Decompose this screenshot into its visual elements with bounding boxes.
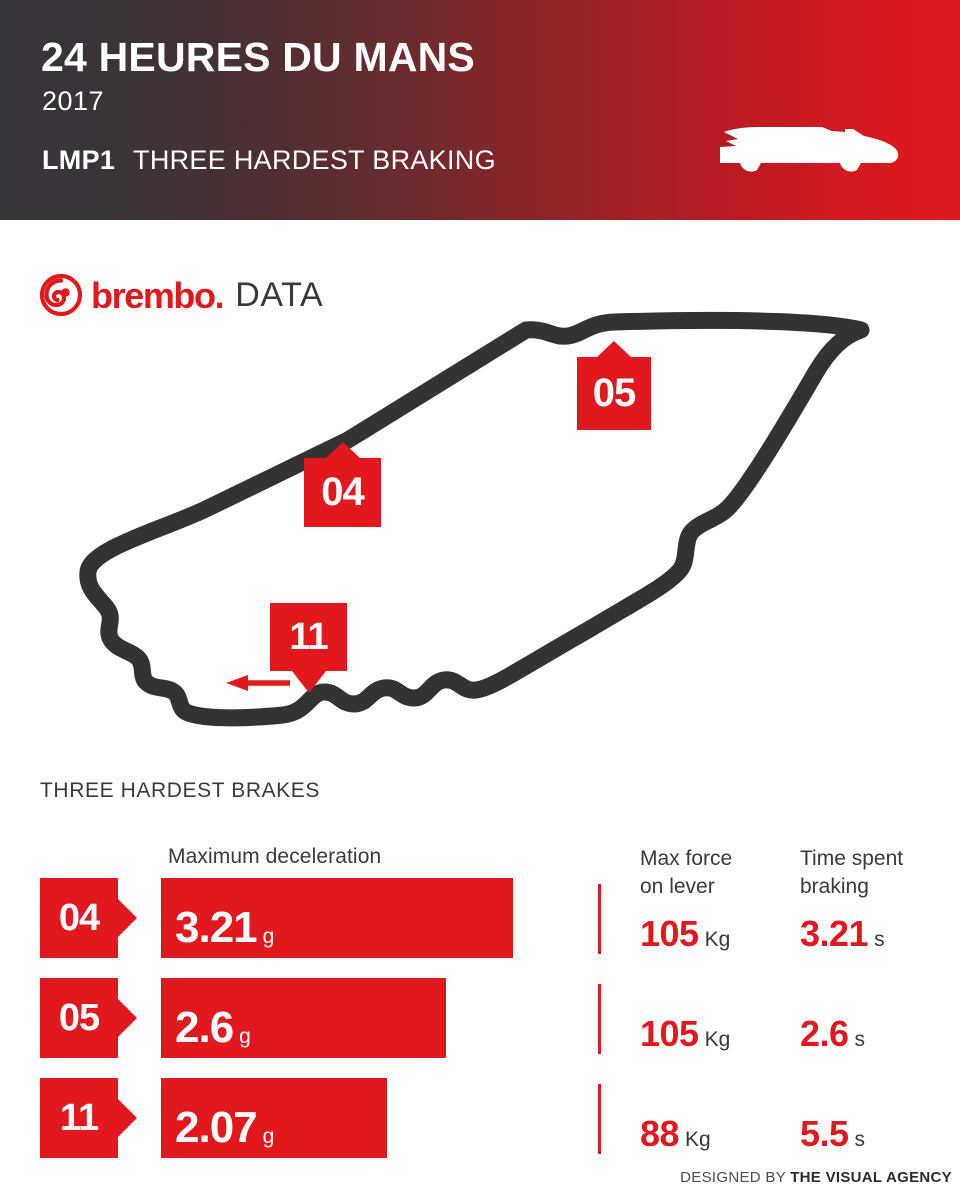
circuit-map <box>48 300 928 740</box>
decel-bar: 2.07 g <box>161 1078 387 1158</box>
force-unit: Kg <box>699 1029 731 1052</box>
section-title: THREE HARDEST BRAKES <box>40 779 320 803</box>
direction-arrow-icon <box>226 675 290 691</box>
decel-unit: g <box>233 1026 251 1058</box>
time-value: 3.21 <box>800 916 868 952</box>
decel-value: 2.6 <box>161 1006 233 1058</box>
time-unit: s <box>868 929 885 952</box>
header-banner: 24 HEURES DU MANS 2017 LMP1 THREE HARDES… <box>0 0 960 220</box>
map-marker-04[interactable]: 04 <box>304 458 381 527</box>
pin-tab <box>326 442 360 458</box>
corner-label: 04 <box>59 897 99 940</box>
edition-year: 2017 <box>42 88 104 115</box>
corner-badge[interactable]: 11 <box>40 1078 118 1158</box>
column-divider <box>598 984 601 1054</box>
time-metric: 2.6 s <box>800 1016 865 1052</box>
force-unit: Kg <box>679 1129 711 1152</box>
force-metric: 105 Kg <box>640 916 730 952</box>
map-marker-11[interactable]: 11 <box>270 603 347 671</box>
force-value: 105 <box>640 1016 699 1052</box>
decel-unit: g <box>257 926 275 958</box>
force-metric: 105 Kg <box>640 1016 730 1052</box>
corner-badge[interactable]: 04 <box>40 878 118 958</box>
column-divider <box>598 1084 601 1154</box>
brakes-chart: Maximum deceleration Max force on lever … <box>0 840 960 1160</box>
force-metric: 88 Kg <box>640 1116 711 1152</box>
badge-nib <box>118 1099 137 1137</box>
corner-badge[interactable]: 05 <box>40 978 118 1058</box>
pin-tab <box>292 671 326 693</box>
time-value: 5.5 <box>800 1116 849 1152</box>
table-row: 04 3.21 g 105 Kg 3.21 s <box>0 878 960 958</box>
decel-bar: 3.21 g <box>161 878 513 958</box>
subtitle: LMP1 THREE HARDEST BRAKING <box>42 147 496 174</box>
column-divider <box>598 884 601 954</box>
force-value: 105 <box>640 916 699 952</box>
time-metric: 3.21 s <box>800 916 885 952</box>
corner-label: 11 <box>60 1097 98 1140</box>
time-metric: 5.5 s <box>800 1116 865 1152</box>
footer-prefix: DESIGNED BY <box>680 1169 786 1186</box>
category-label: LMP1 <box>42 145 115 175</box>
badge-nib <box>118 899 137 937</box>
decel-bar: 2.6 g <box>161 978 446 1058</box>
time-value: 2.6 <box>800 1016 849 1052</box>
decel-value: 3.21 <box>161 906 257 958</box>
map-marker-label: 05 <box>593 371 636 416</box>
map-marker-label: 11 <box>289 616 327 659</box>
footer-credit: DESIGNED BY THE VISUAL AGENCY <box>680 1169 952 1186</box>
lmp1-car-icon <box>714 118 900 180</box>
force-value: 88 <box>640 1116 679 1152</box>
force-unit: Kg <box>699 929 731 952</box>
table-row: 11 2.07 g 88 Kg 5.5 s <box>0 1078 960 1158</box>
column-header-time-line1: Time spent <box>800 845 950 873</box>
corner-label: 05 <box>59 997 99 1040</box>
subtitle-label: THREE HARDEST BRAKING <box>133 145 496 175</box>
page-title: 24 HEURES DU MANS <box>41 37 475 78</box>
badge-nib <box>118 999 137 1037</box>
decel-unit: g <box>257 1126 275 1158</box>
decel-value: 2.07 <box>161 1106 257 1158</box>
pin-tab <box>597 341 631 357</box>
infographic-page: 24 HEURES DU MANS 2017 LMP1 THREE HARDES… <box>0 0 960 1200</box>
column-header-deceleration: Maximum deceleration <box>168 845 381 869</box>
table-row: 05 2.6 g 105 Kg 2.6 s <box>0 978 960 1058</box>
map-marker-label: 04 <box>321 470 364 515</box>
map-marker-05[interactable]: 05 <box>577 357 651 430</box>
column-header-force-line1: Max force <box>640 845 785 873</box>
time-unit: s <box>849 1029 866 1052</box>
time-unit: s <box>849 1129 866 1152</box>
footer-agency: THE VISUAL AGENCY <box>790 1169 952 1186</box>
